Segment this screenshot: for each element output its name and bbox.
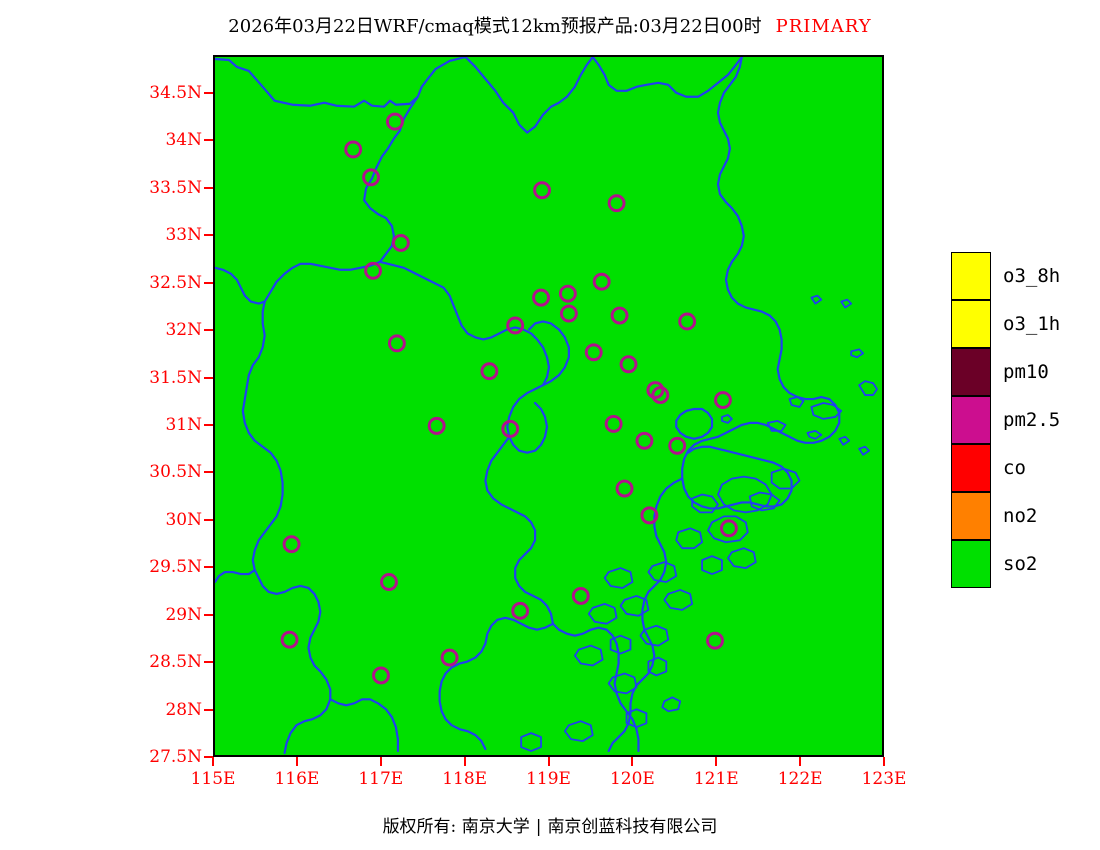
- x-axis-tick-mark: [380, 757, 382, 766]
- y-axis-tick-label: 31.5N: [60, 368, 202, 388]
- y-axis-tick-label: 34.5N: [60, 83, 202, 103]
- y-axis-tick-mark: [204, 756, 213, 758]
- station-marker[interactable]: [721, 521, 736, 536]
- station-marker[interactable]: [442, 650, 457, 665]
- y-axis-tick-mark: [204, 282, 213, 284]
- legend-label: pm2.5: [1003, 409, 1060, 431]
- legend-color-swatch: [951, 252, 991, 300]
- x-axis-tick-label: 123E: [862, 769, 907, 789]
- station-marker[interactable]: [429, 418, 444, 433]
- x-axis-tick-label: 122E: [778, 769, 823, 789]
- station-marker[interactable]: [364, 170, 379, 185]
- station-marker[interactable]: [606, 416, 621, 431]
- legend-label: so2: [1003, 553, 1037, 575]
- station-marker[interactable]: [680, 314, 695, 329]
- y-axis-tick-label: 28.5N: [60, 652, 202, 672]
- station-marker[interactable]: [637, 433, 652, 448]
- station-marker[interactable]: [282, 632, 297, 647]
- legend-label: no2: [1003, 505, 1037, 527]
- y-axis-tick-label: 27.5N: [60, 747, 202, 767]
- legend-color-swatch: [951, 348, 991, 396]
- y-axis-tick-mark: [204, 329, 213, 331]
- station-marker[interactable]: [573, 588, 588, 603]
- map-plot-area[interactable]: [213, 55, 884, 757]
- legend-label: co: [1003, 457, 1026, 479]
- legend-label: o3_1h: [1003, 313, 1060, 335]
- y-axis-tick-label: 30N: [60, 510, 202, 530]
- legend-label: pm10: [1003, 361, 1049, 383]
- station-marker[interactable]: [609, 196, 624, 211]
- y-axis-tick-mark: [204, 139, 213, 141]
- y-axis-tick-label: 34N: [60, 130, 202, 150]
- x-axis-tick-label: 117E: [358, 769, 403, 789]
- footer-separator: |: [536, 817, 542, 837]
- title-primary-tag: PRIMARY: [776, 16, 872, 37]
- y-axis-tick-label: 32.5N: [60, 273, 202, 293]
- station-marker[interactable]: [513, 603, 528, 618]
- station-marker[interactable]: [393, 235, 408, 250]
- y-axis-tick-mark: [204, 377, 213, 379]
- x-axis-tick-label: 120E: [610, 769, 655, 789]
- legend-color-swatch: [951, 540, 991, 588]
- x-axis-tick-mark: [548, 757, 550, 766]
- y-axis-tick-mark: [204, 234, 213, 236]
- x-axis-tick-label: 116E: [274, 769, 319, 789]
- station-marker[interactable]: [594, 274, 609, 289]
- y-axis-tick-mark: [204, 519, 213, 521]
- x-axis-tick-label: 121E: [694, 769, 739, 789]
- station-marker[interactable]: [389, 336, 404, 351]
- station-marker[interactable]: [561, 306, 576, 321]
- forecast-map-page: 2026年03月22日WRF/cmaq模式12km预报产品:03月22日00时P…: [0, 0, 1100, 850]
- station-marker[interactable]: [617, 481, 632, 496]
- y-axis-tick-label: 31N: [60, 415, 202, 435]
- x-axis-tick-mark: [296, 757, 298, 766]
- station-marker[interactable]: [708, 633, 723, 648]
- legend-label: o3_8h: [1003, 265, 1060, 287]
- y-axis-tick-label: 33.5N: [60, 178, 202, 198]
- legend-color-swatch: [951, 300, 991, 348]
- x-axis-tick-label: 119E: [526, 769, 571, 789]
- station-marker[interactable]: [374, 668, 389, 683]
- x-axis-tick-label: 118E: [442, 769, 487, 789]
- y-axis-tick-label: 30.5N: [60, 462, 202, 482]
- y-axis-tick-mark: [204, 614, 213, 616]
- y-axis-tick-mark: [204, 471, 213, 473]
- legend-color-swatch: [951, 444, 991, 492]
- monitoring-station-markers: [282, 114, 736, 683]
- x-axis-tick-mark: [631, 757, 633, 766]
- x-axis-tick-mark: [883, 757, 885, 766]
- legend-color-swatch: [951, 396, 991, 444]
- station-marker[interactable]: [715, 393, 730, 408]
- footer-company: 南京创蓝科技有限公司: [547, 817, 717, 837]
- page-title: 2026年03月22日WRF/cmaq模式12km预报产品:03月22日00时P…: [0, 12, 1100, 38]
- station-marker[interactable]: [382, 575, 397, 590]
- station-marker[interactable]: [535, 183, 550, 198]
- copyright-footer: 版权所有: 南京大学|南京创蓝科技有限公司: [0, 812, 1100, 837]
- station-marker[interactable]: [586, 345, 601, 360]
- map-vector-layer: [215, 57, 882, 755]
- y-axis-tick-label: 28N: [60, 700, 202, 720]
- y-axis-tick-label: 32N: [60, 320, 202, 340]
- station-marker[interactable]: [612, 308, 627, 323]
- station-marker[interactable]: [284, 537, 299, 552]
- station-marker[interactable]: [670, 438, 685, 453]
- x-axis-tick-label: 115E: [191, 769, 236, 789]
- station-marker[interactable]: [508, 318, 523, 333]
- y-axis-tick-mark: [204, 566, 213, 568]
- title-main-text: 2026年03月22日WRF/cmaq模式12km预报产品:03月22日00时: [228, 16, 761, 37]
- x-axis-tick-mark: [715, 757, 717, 766]
- y-axis-tick-mark: [204, 424, 213, 426]
- province-boundary-lines: [215, 57, 839, 753]
- y-axis-tick-mark: [204, 92, 213, 94]
- x-axis-tick-mark: [799, 757, 801, 766]
- y-axis-tick-label: 29N: [60, 605, 202, 625]
- station-marker[interactable]: [560, 286, 575, 301]
- island-outlines: [521, 296, 877, 751]
- station-marker[interactable]: [346, 142, 361, 157]
- station-marker[interactable]: [503, 421, 518, 436]
- y-axis-tick-label: 29.5N: [60, 557, 202, 577]
- x-axis-tick-mark: [212, 757, 214, 766]
- y-axis-tick-mark: [204, 709, 213, 711]
- y-axis-tick-mark: [204, 661, 213, 663]
- legend-color-swatch: [951, 492, 991, 540]
- y-axis-tick-label: 33N: [60, 225, 202, 245]
- x-axis-tick-mark: [464, 757, 466, 766]
- footer-owner: 版权所有: 南京大学: [383, 817, 530, 837]
- station-marker[interactable]: [621, 357, 636, 372]
- station-marker[interactable]: [534, 290, 549, 305]
- station-marker[interactable]: [482, 364, 497, 379]
- station-marker[interactable]: [387, 114, 402, 129]
- y-axis-tick-mark: [204, 187, 213, 189]
